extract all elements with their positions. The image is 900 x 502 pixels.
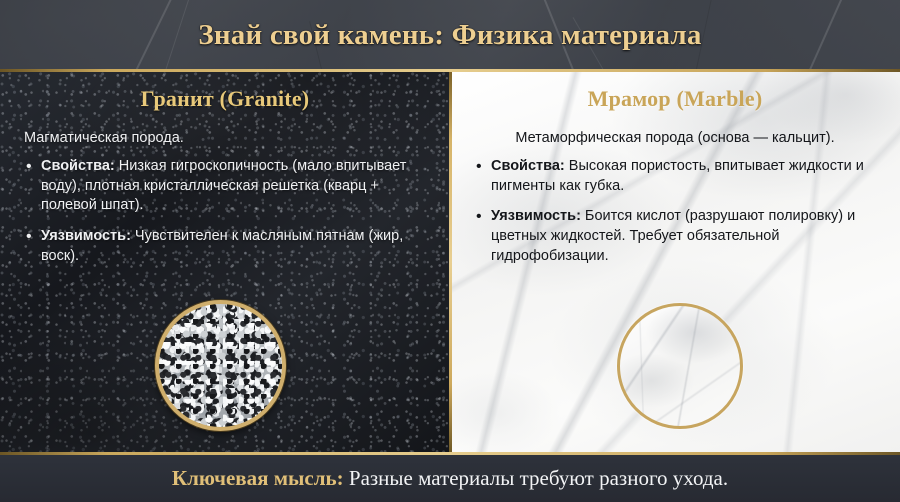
panel-marble-title: Мрамор (Marble) [474,86,876,112]
slide-root: Знай свой камень: Физика материала Грани… [0,0,900,502]
granite-stone-sample-icon [155,300,286,431]
panel-marble-content: Мрамор (Marble) Метаморфическая порода (… [450,72,900,267]
list-item: Свойства: Низкая гигроскопичность (мало … [24,157,426,216]
bullet-label: Свойства: [491,158,565,174]
key-takeaway-text: Разные материалы требуют разного ухода. [344,466,729,490]
gold-divider-top [0,69,900,72]
key-takeaway: Ключевая мысль: Разные материалы требуют… [172,466,728,491]
panel-divider [449,72,452,452]
panel-granite-bullet-list: Свойства: Низкая гигроскопичность (мало … [24,157,426,267]
bullet-label: Уязвимость: [41,228,131,244]
panel-granite-title: Гранит (Granite) [24,86,426,112]
list-item: Уязвимость: Боится кислот (разрушают пол… [474,207,876,266]
header-banner: Знай свой камень: Физика материала [0,0,900,70]
page-title: Знай свой камень: Физика материала [0,0,900,70]
panel-granite-lead: Магматическая порода. [24,128,426,148]
list-item: Свойства: Высокая пористость, впитывает … [474,157,876,196]
bullet-label: Свойства: [41,158,115,174]
marble-stone-sample-icon [617,303,743,429]
list-item: Уязвимость: Чувствителен к масляным пятн… [24,227,426,266]
panel-granite-content: Гранит (Granite) Магматическая порода. С… [0,72,450,267]
panel-marble-bullet-list: Свойства: Высокая пористость, впитывает … [474,157,876,267]
key-takeaway-label: Ключевая мысль: [172,466,344,490]
footer-banner: Ключевая мысль: Разные материалы требуют… [0,455,900,502]
panel-marble-lead: Метаморфическая порода (основа — кальцит… [474,128,876,148]
bullet-label: Уязвимость: [491,208,581,224]
gold-divider-bottom [0,452,900,455]
